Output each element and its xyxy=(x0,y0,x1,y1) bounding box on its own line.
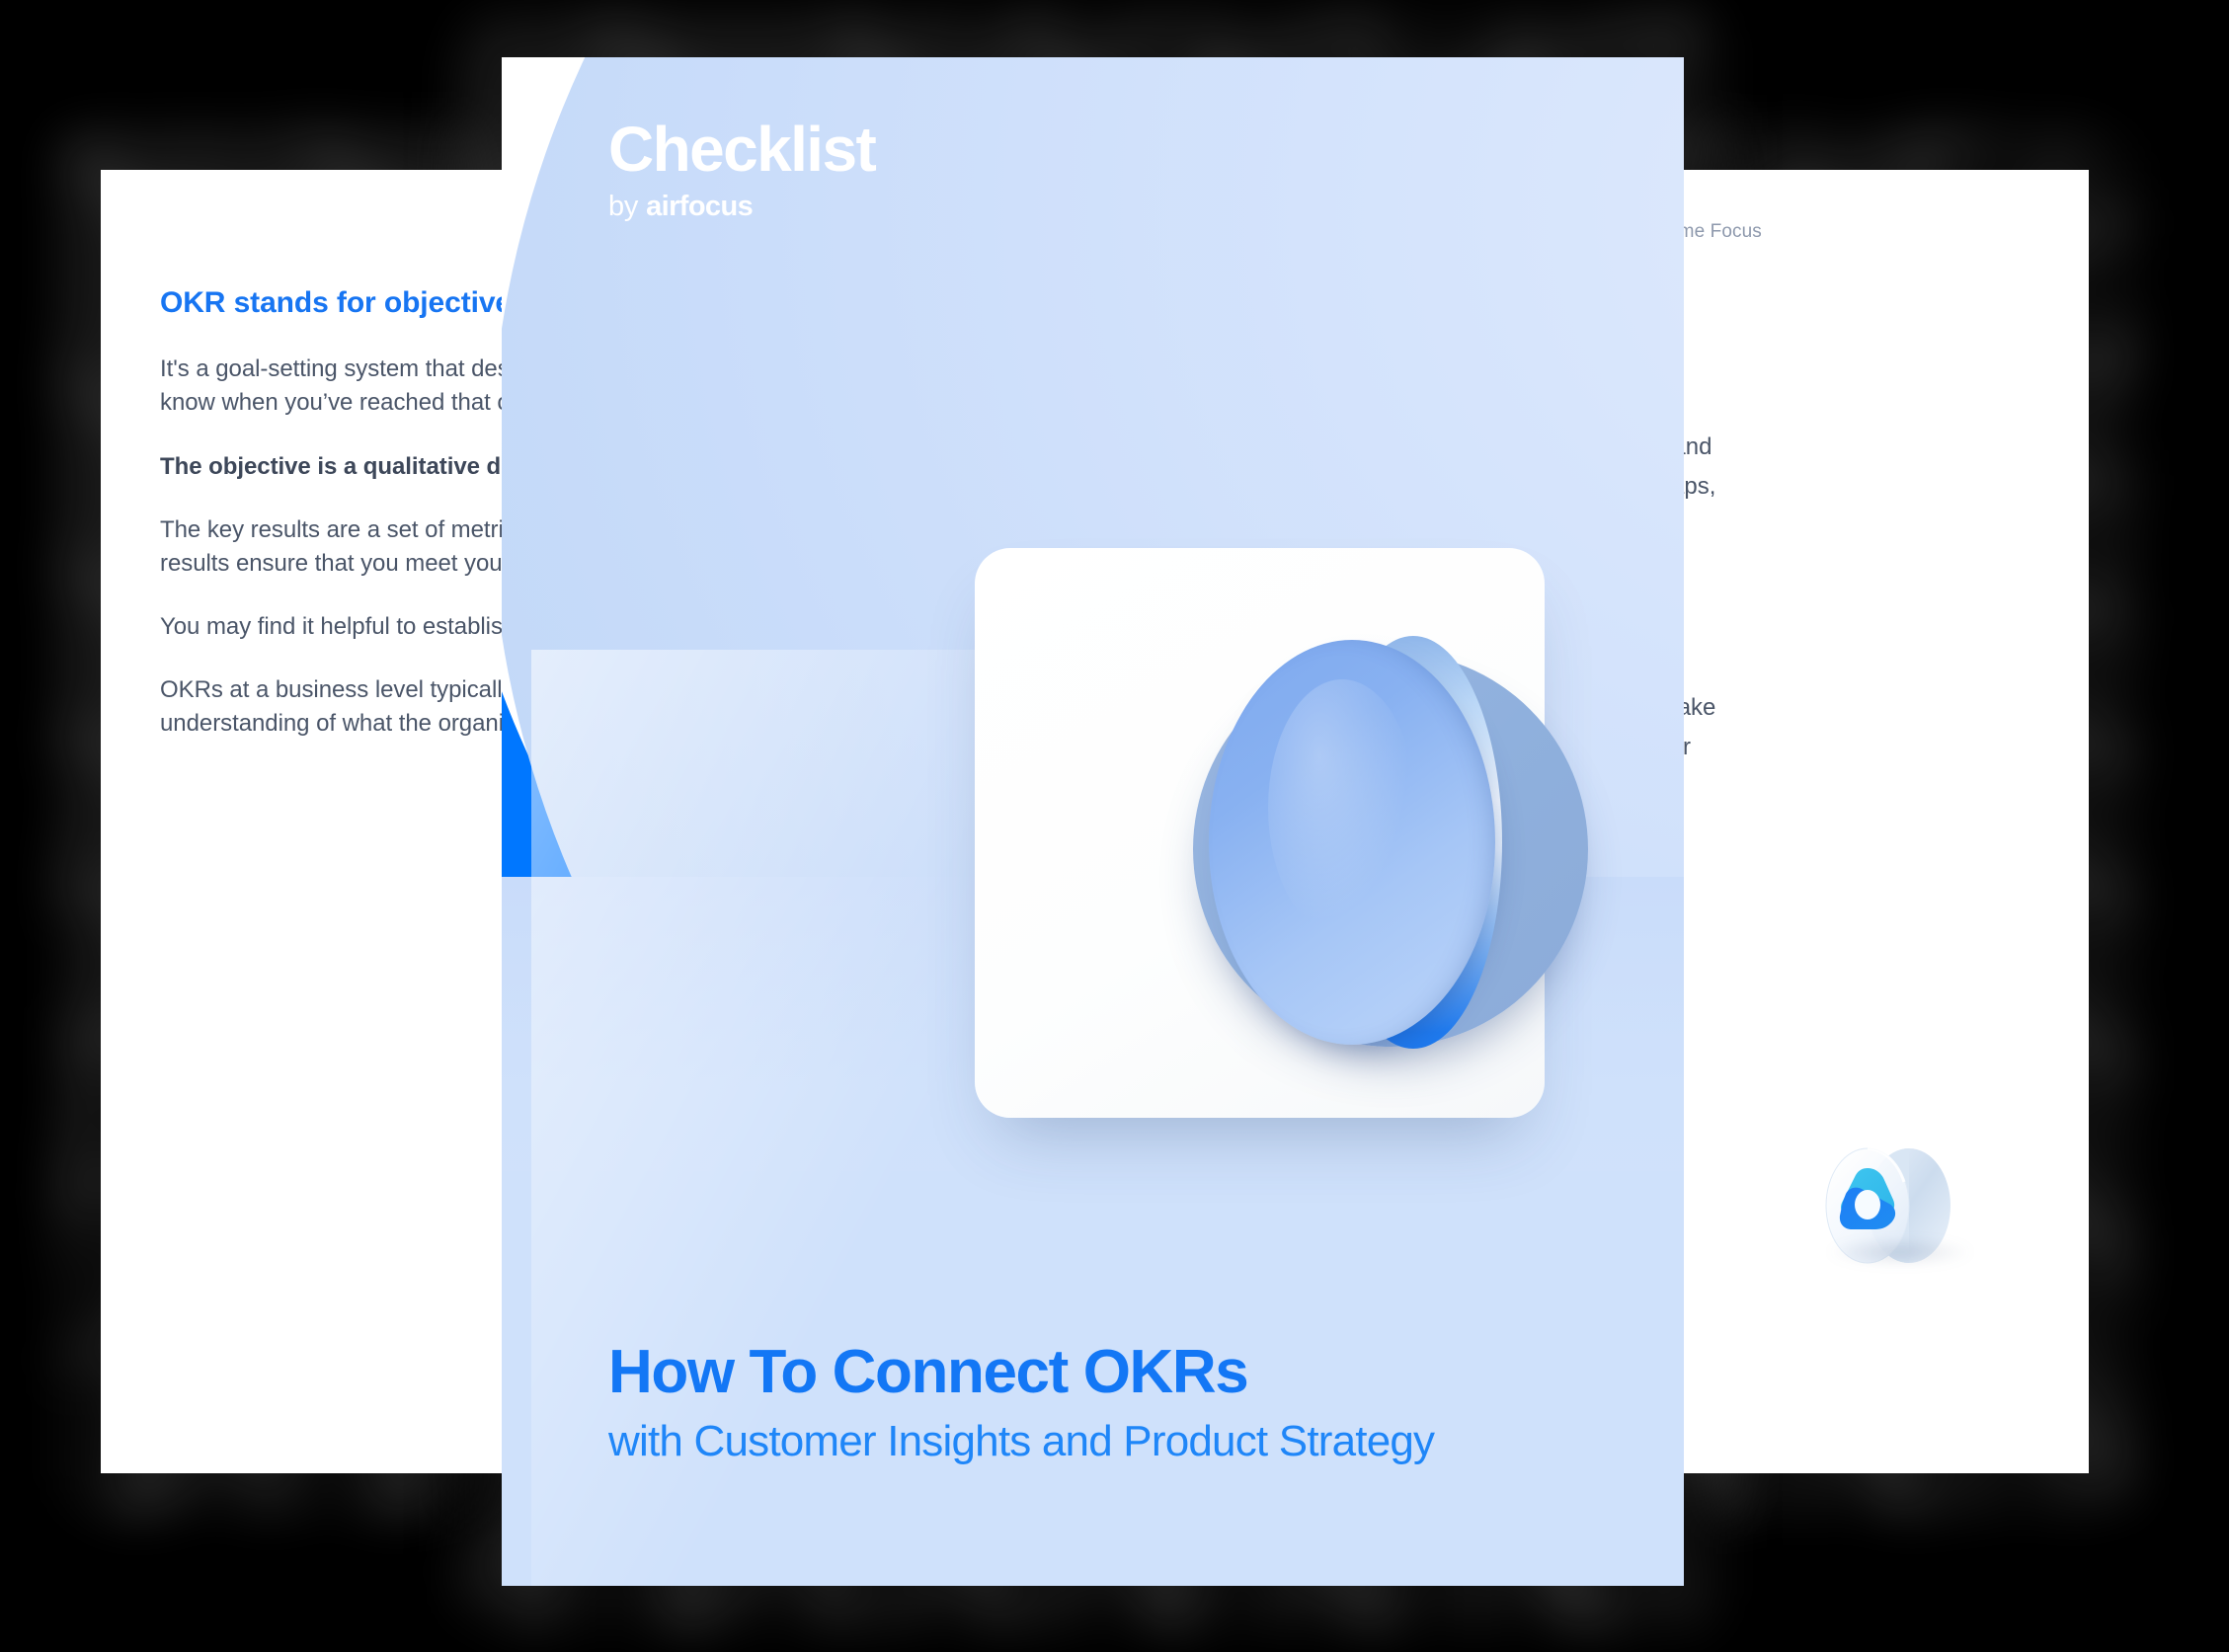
cover-by-prefix: by xyxy=(608,191,646,222)
screenshot-stage: Checklist – How to Conne OKR stands for … xyxy=(0,0,2229,1652)
sphere-3d-icon xyxy=(1171,630,1606,1064)
sphere-front-lens xyxy=(1209,640,1495,1045)
airfocus-glass-logo-icon xyxy=(1812,1142,1990,1271)
cover-subheadline: with Customer Insights and Product Strat… xyxy=(608,1416,1434,1467)
cover-card: Checklist by airfocus How To Connect OKR… xyxy=(502,57,1684,1586)
cover-header: Checklist by airfocus xyxy=(608,117,875,223)
cover-title: Checklist xyxy=(608,117,875,183)
cover-headline: How To Connect OKRs xyxy=(608,1339,1434,1406)
cover-brand-name: airfocus xyxy=(646,191,753,222)
sphere-highlight xyxy=(1268,679,1416,936)
cover-footer: How To Connect OKRs with Customer Insigh… xyxy=(608,1339,1434,1467)
cover-byline: by airfocus xyxy=(608,191,875,223)
